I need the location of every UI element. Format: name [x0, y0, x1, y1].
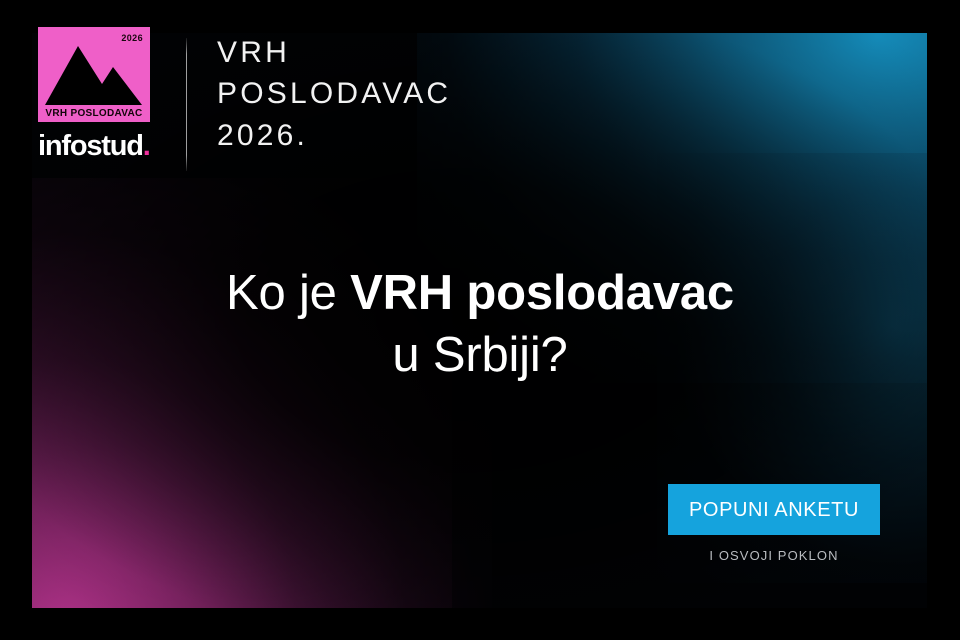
event-title-line-1: VRH [217, 32, 451, 73]
vertical-divider [186, 38, 187, 171]
popuni-anketu-button[interactable]: POPUNI ANKETU [668, 484, 880, 535]
cta-note-label: I OSVOJI POKLON [668, 548, 880, 563]
magenta-glow-decoration [32, 178, 452, 608]
event-title: VRH POSLODAVAC 2026. [217, 32, 451, 156]
logo-lockup: 2026 VRH POSLODAVAC infostud. VRH POSLOD… [38, 27, 451, 171]
headline-line-1-bold: VRH poslodavac [350, 266, 734, 320]
infostud-wordmark: infostud. [38, 132, 156, 161]
cta-block: POPUNI ANKETU I OSVOJI POKLON [668, 484, 880, 563]
headline-line-1: Ko je VRH poslodavac [0, 262, 960, 324]
promo-banner: 2026 VRH POSLODAVAC infostud. VRH POSLOD… [0, 0, 960, 640]
brand-block: 2026 VRH POSLODAVAC infostud. [38, 27, 156, 161]
headline: Ko je VRH poslodavac u Srbiji? [0, 262, 960, 386]
vrh-poslodavac-badge: 2026 VRH POSLODAVAC [38, 27, 150, 122]
infostud-wordmark-dot: . [143, 132, 150, 161]
event-title-line-2: POSLODAVAC [217, 73, 451, 114]
badge-caption-label: VRH POSLODAVAC [38, 108, 150, 119]
headline-line-1-thin: Ko je [226, 266, 350, 320]
mountain-icon [38, 39, 150, 105]
infostud-wordmark-text: infostud [38, 132, 143, 161]
headline-line-2: u Srbiji? [0, 324, 960, 386]
event-title-line-3: 2026. [217, 115, 451, 156]
